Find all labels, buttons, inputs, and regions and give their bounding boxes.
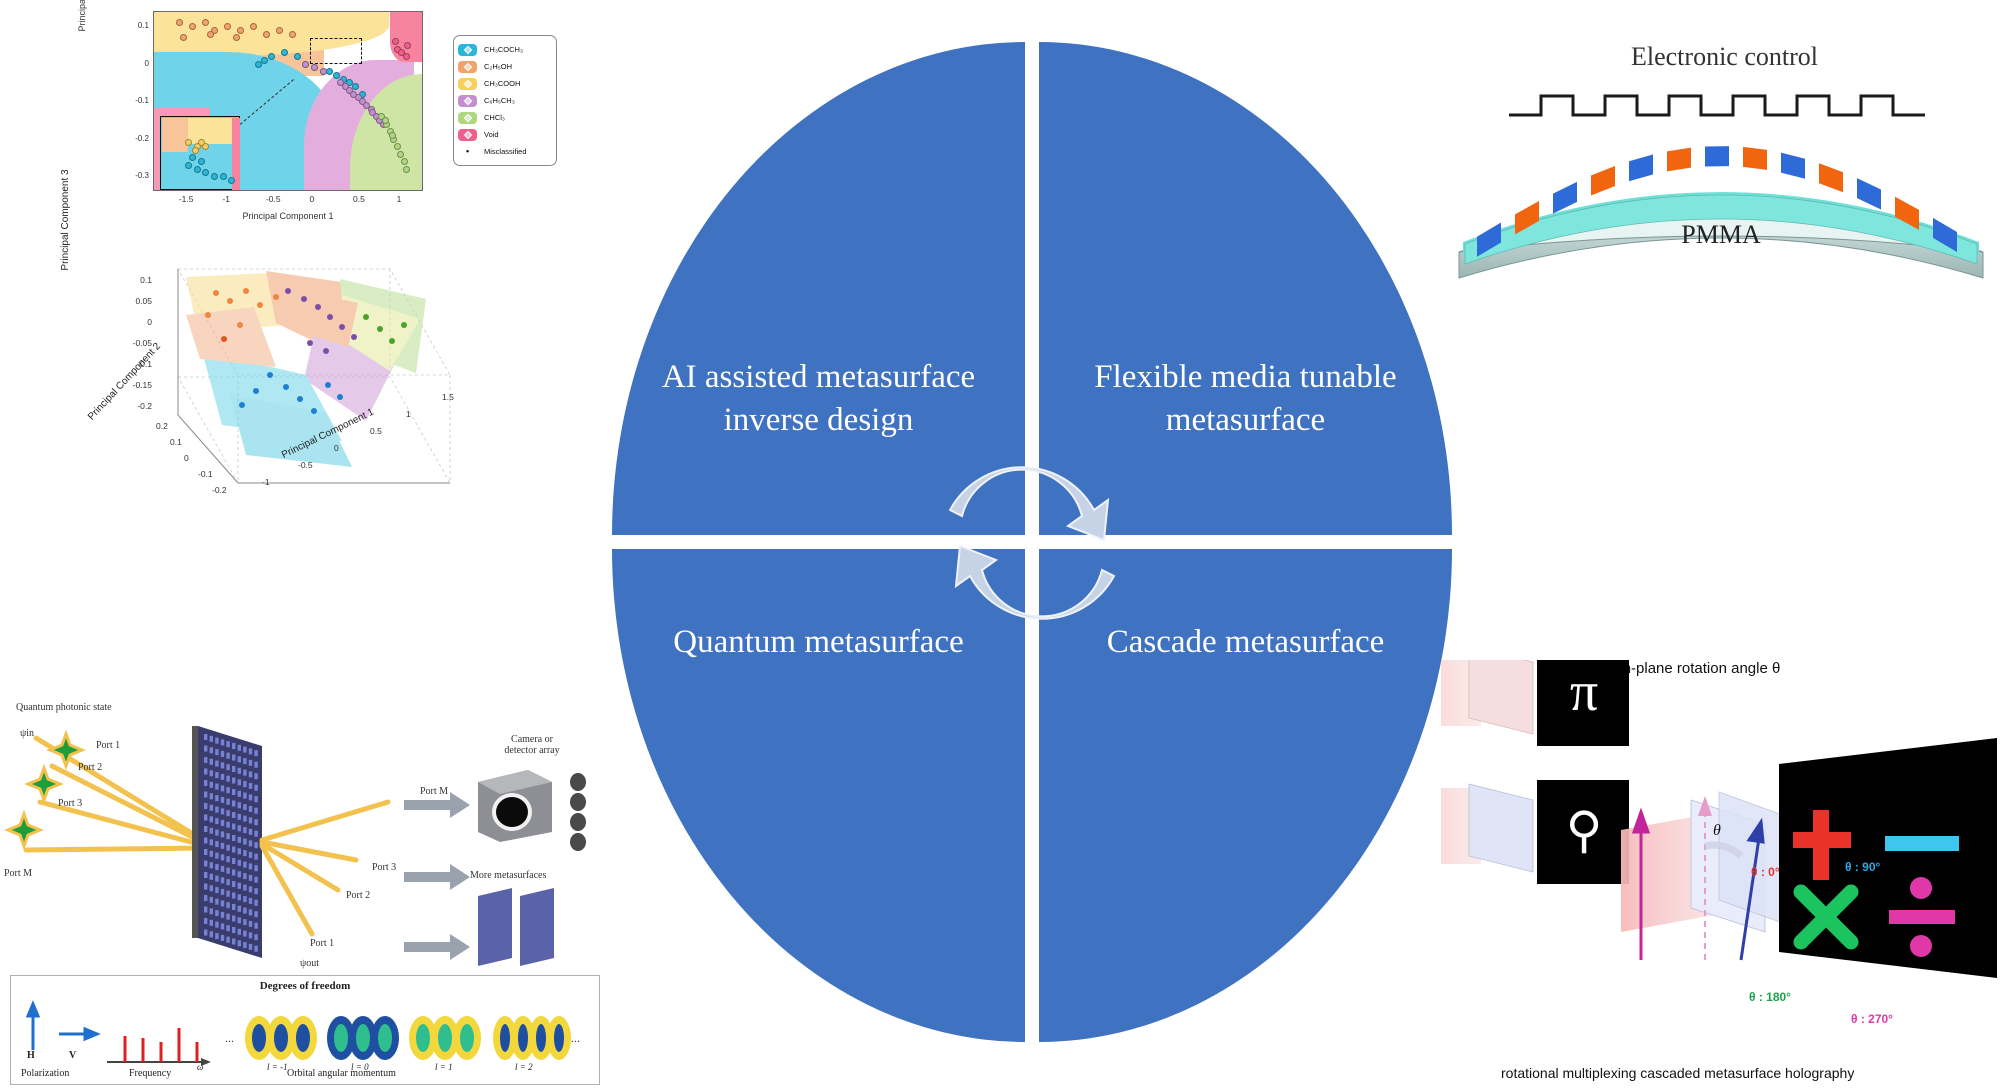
- meta-atom: [243, 839, 246, 845]
- metasurface-stripe: [1781, 153, 1805, 179]
- x-tick: -0.5: [298, 460, 313, 470]
- result-screen: [1779, 738, 1997, 978]
- pca-2d-x-axis-label: Principal Component 1: [153, 211, 423, 221]
- meta-atom: [243, 942, 246, 948]
- legend-row: Void: [458, 126, 552, 143]
- quadrant-label: Cascade metasurface: [1107, 621, 1385, 665]
- frequency-axis-label: ω: [197, 1062, 203, 1072]
- pca-2d-scatter-panel: Principal Component 2 0.10-0.1-0.2-0.3 -…: [105, 5, 575, 260]
- meta-atom: [221, 923, 224, 929]
- meta-atom: [232, 766, 235, 772]
- pca-3d-z-axis-label: Principal Component 3: [60, 145, 71, 295]
- meta-atom: [249, 748, 252, 754]
- meta-atom: [204, 803, 207, 809]
- hologram-magnifier-symbol: ⚲: [1553, 800, 1615, 860]
- square-wave-signal: [1509, 96, 1925, 115]
- meta-atom: [226, 891, 229, 897]
- meta-atom: [243, 885, 246, 891]
- theta-symbol-label: θ: [1713, 822, 1721, 840]
- meta-atom: [204, 826, 207, 832]
- meta-atom: [249, 760, 252, 766]
- metasurface-stripe: [1591, 166, 1615, 196]
- oam-modes-icon: [245, 1016, 571, 1060]
- meta-atom: [221, 877, 224, 883]
- meta-atom: [215, 795, 218, 801]
- meta-atom: [254, 831, 257, 837]
- meta-atom: [215, 841, 218, 847]
- scatter-point: [268, 53, 275, 60]
- meta-atom: [204, 746, 207, 752]
- legend-label: CH₃COOH: [484, 79, 520, 88]
- more-metasurfaces-icon: [478, 888, 554, 966]
- x-tick: -1.5: [179, 194, 194, 204]
- metasurface-plate: [192, 726, 262, 958]
- meta-atom: [210, 816, 213, 822]
- legend-row: CH₃COCH₃: [458, 41, 552, 58]
- photon-state-icons: [8, 734, 82, 846]
- metasurface-stripe: [1667, 148, 1691, 172]
- meta-atom: [215, 772, 218, 778]
- meta-atom: [232, 755, 235, 761]
- meta-atom: [221, 774, 224, 780]
- meta-atom: [232, 904, 235, 910]
- meta-atom: [232, 847, 235, 853]
- arrow-counterclockwise-icon: [956, 546, 1114, 619]
- scatter-point: [352, 83, 359, 90]
- meta-atom: [254, 819, 257, 825]
- more-metasurfaces-label: More metasurfaces: [470, 870, 546, 881]
- meta-atom: [226, 914, 229, 920]
- meta-atom: [232, 893, 235, 899]
- flexible-pmma-metasurface-panel: Electronic control PMMA: [1441, 20, 2001, 310]
- oam-mode-3-label: l = 2: [515, 1062, 533, 1072]
- meta-atom: [215, 749, 218, 755]
- meta-atom: [254, 911, 257, 917]
- scatter-point: [276, 27, 283, 34]
- meta-atom: [238, 768, 241, 774]
- meta-atom: [226, 902, 229, 908]
- scatter-point: [403, 53, 410, 60]
- meta-atom: [254, 750, 257, 756]
- legend-row: CHCl₃: [458, 109, 552, 126]
- meta-atom: [226, 741, 229, 747]
- meta-atom: [249, 771, 252, 777]
- scatter-point: [389, 132, 396, 139]
- pmma-illustration: [1441, 20, 2001, 310]
- meta-atom: [254, 842, 257, 848]
- scatter-point: [401, 158, 408, 165]
- output-beams: [262, 802, 388, 934]
- meta-atom: [232, 824, 235, 830]
- metasurface-stripe: [1743, 147, 1767, 170]
- pmma-substrate-label: PMMA: [1441, 220, 2001, 250]
- legend-swatch: [458, 129, 477, 141]
- legend-label: Void: [484, 130, 499, 139]
- meta-atom: [238, 871, 241, 877]
- meta-atom: [254, 762, 257, 768]
- legend-label: C₆H₅CH₃: [484, 96, 515, 105]
- meta-atom: [249, 909, 252, 915]
- meta-atom: [204, 769, 207, 775]
- legend-dot-icon: •: [458, 146, 477, 158]
- meta-atom: [226, 753, 229, 759]
- meta-atom: [204, 792, 207, 798]
- legend-swatch: [458, 95, 477, 107]
- zoom-inset-orange: [162, 118, 188, 152]
- meta-atom: [243, 781, 246, 787]
- x-tick: 0.5: [370, 426, 382, 436]
- meta-atom: [232, 870, 235, 876]
- polarization-arrows-icon: [28, 1004, 97, 1050]
- cascaded-case: [1621, 738, 1997, 978]
- legend-row: •Misclassified: [458, 143, 552, 160]
- meta-atom: [232, 835, 235, 841]
- scatter-point: [281, 49, 288, 56]
- meta-atom: [238, 779, 241, 785]
- legend-label: Misclassified: [484, 147, 527, 156]
- meta-atom: [215, 853, 218, 859]
- meta-atom: [226, 810, 229, 816]
- meta-atom: [238, 883, 241, 889]
- cascaded-holography-panel: Relative in-plane rotation angle θ: [1441, 660, 2001, 1092]
- oam-caption: Orbital angular momentum: [287, 1068, 396, 1079]
- angle-270-label: θ : 270°: [1851, 1012, 1893, 1026]
- meta-atom: [204, 872, 207, 878]
- meta-atom: [232, 927, 235, 933]
- meta-atom: [232, 812, 235, 818]
- meta-atom: [249, 932, 252, 938]
- meta-atom: [226, 879, 229, 885]
- meta-atom: [249, 875, 252, 881]
- quantum-metasurface-panel: Quantum photonic state ψin ψout Port 1 P…: [0, 690, 620, 1092]
- dashed-selection-box: [310, 38, 362, 64]
- meta-atom: [215, 830, 218, 836]
- meta-atom: [238, 906, 241, 912]
- camera-detector-icon: [478, 770, 586, 851]
- meta-atom: [238, 837, 241, 843]
- meta-atom: [243, 816, 246, 822]
- scatter-point: [302, 61, 309, 68]
- meta-atom: [204, 895, 207, 901]
- y-tick: -0.2: [135, 134, 149, 143]
- svg-text:...: ...: [225, 1031, 234, 1045]
- x-tick: -0.5: [266, 194, 281, 204]
- meta-atom: [243, 793, 246, 799]
- meta-atom: [238, 825, 241, 831]
- meta-atom: [215, 933, 218, 939]
- legend-row: CH₃COOH: [458, 75, 552, 92]
- meta-atom: [238, 929, 241, 935]
- polarization-v-label: V: [69, 1050, 76, 1061]
- meta-atom: [254, 865, 257, 871]
- scatter-point: [237, 27, 244, 34]
- meta-atom: [215, 818, 218, 824]
- meta-atom: [226, 845, 229, 851]
- x-tick: -1: [222, 194, 230, 204]
- meta-atom: [215, 864, 218, 870]
- meta-atom: [254, 946, 257, 952]
- meta-atom: [232, 743, 235, 749]
- angle-180-label: θ : 180°: [1749, 990, 1791, 1004]
- meta-atom: [210, 897, 213, 903]
- output-port-1-label: Port 1: [310, 938, 334, 949]
- meta-atom: [210, 805, 213, 811]
- metasurface-stripe: [1705, 146, 1729, 166]
- meta-atom: [221, 762, 224, 768]
- output-port-3-label: Port 3: [372, 862, 396, 873]
- meta-atom: [254, 785, 257, 791]
- output-arrows: [404, 792, 470, 960]
- meta-atom: [243, 850, 246, 856]
- meta-atom: [254, 923, 257, 929]
- meta-atom: [249, 886, 252, 892]
- meta-atom: [232, 778, 235, 784]
- degrees-of-freedom-box: Degrees of freedom: [10, 975, 600, 1085]
- x-tick: -1: [262, 477, 270, 487]
- meta-atom: [249, 898, 252, 904]
- scatter-point: [333, 72, 340, 79]
- meta-atom: [210, 862, 213, 868]
- meta-atom: [254, 900, 257, 906]
- meta-atom: [226, 822, 229, 828]
- meta-atom: [226, 787, 229, 793]
- y-tick: -0.1: [135, 96, 149, 105]
- quantum-photonic-state-label: Quantum photonic state: [16, 702, 112, 713]
- psi-out-label: ψout: [300, 958, 319, 969]
- meta-atom: [226, 856, 229, 862]
- scatter-point: [194, 166, 201, 173]
- meta-atom: [210, 885, 213, 891]
- meta-atom: [210, 920, 213, 926]
- meta-atom: [226, 799, 229, 805]
- legend-swatch: [458, 61, 477, 73]
- meta-atom: [215, 807, 218, 813]
- meta-atom: [215, 922, 218, 928]
- meta-atom: [204, 815, 207, 821]
- meta-atom: [243, 931, 246, 937]
- frequency-comb-icon: [107, 1028, 211, 1066]
- camera-detector-label: Camera or detector array: [482, 734, 582, 756]
- meta-atom: [243, 804, 246, 810]
- output-port-m-label: Port M: [420, 786, 448, 797]
- meta-atom: [232, 801, 235, 807]
- scatter-point: [294, 53, 301, 60]
- meta-atom: [221, 751, 224, 757]
- scatter-point: [320, 68, 327, 75]
- meta-atom: [238, 756, 241, 762]
- frequency-caption: Frequency: [129, 1068, 171, 1079]
- angle-90-label: θ : 90°: [1845, 860, 1880, 874]
- x-tick: 1: [406, 409, 411, 419]
- scatter-point: [289, 31, 296, 38]
- meta-atom: [221, 843, 224, 849]
- scatter-point: [403, 166, 410, 173]
- meta-atom: [232, 789, 235, 795]
- hologram-pi-symbol: π: [1553, 662, 1615, 722]
- svg-text:...: ...: [571, 1031, 580, 1045]
- arrow-clockwise-icon: [950, 467, 1108, 540]
- legend-row: C₂H₅OH: [458, 58, 552, 75]
- pca-legend: CH₃COCH₃C₂H₅OHCH₃COOHC₆H₅CH₃CHCl₃Void•Mi…: [453, 35, 557, 166]
- meta-atom: [221, 797, 224, 803]
- meta-atom: [210, 793, 213, 799]
- meta-atom: [204, 838, 207, 844]
- meta-atom: [215, 876, 218, 882]
- y-tick: 0.1: [138, 21, 149, 30]
- x-tick: 0: [334, 443, 339, 453]
- meta-atom: [249, 921, 252, 927]
- meta-atom: [249, 829, 252, 835]
- meta-atom: [249, 783, 252, 789]
- meta-atom: [210, 839, 213, 845]
- meta-atom: [249, 794, 252, 800]
- pca-2d-plot-area: [153, 11, 423, 191]
- meta-atom: [243, 747, 246, 753]
- pca-2d-y-axis-label: Principal Component 2: [77, 0, 87, 41]
- meta-atom: [243, 919, 246, 925]
- pca-2d-x-tick-labels: -1.5-1-0.500.51: [153, 194, 423, 208]
- pca-3d-scatter-panel: Principal Component 3: [90, 255, 490, 485]
- legend-label: C₂H₅OH: [484, 62, 512, 71]
- metasurface-stripe: [1857, 178, 1881, 209]
- psi-in-label: ψin: [20, 728, 34, 739]
- meta-atom: [210, 736, 213, 742]
- metasurface-stripe: [1629, 154, 1653, 181]
- meta-atom: [243, 758, 246, 764]
- meta-atom: [204, 849, 207, 855]
- meta-atom: [221, 935, 224, 941]
- meta-atom: [238, 802, 241, 808]
- holography-caption: rotational multiplexing cascaded metasur…: [1501, 1065, 1854, 1081]
- input-port-1-label: Port 1: [96, 740, 120, 751]
- meta-atom: [232, 939, 235, 945]
- x-tick: 0.5: [353, 194, 365, 204]
- metasurface-stripe: [1819, 163, 1843, 192]
- meta-atom: [221, 739, 224, 745]
- meta-atom: [221, 820, 224, 826]
- meta-atom: [238, 745, 241, 751]
- meta-atom: [226, 776, 229, 782]
- meta-atom: [249, 817, 252, 823]
- meta-atom: [243, 896, 246, 902]
- meta-atom: [249, 863, 252, 869]
- meta-atom: [221, 785, 224, 791]
- scatter-point: [326, 68, 333, 75]
- meta-atom: [249, 806, 252, 812]
- meta-atom: [238, 940, 241, 946]
- legend-label: CHCl₃: [484, 113, 505, 122]
- input-port-m-label: Port M: [4, 868, 32, 879]
- meta-atom: [215, 784, 218, 790]
- scatter-point: [382, 117, 389, 124]
- meta-atom: [232, 858, 235, 864]
- meta-atom: [221, 808, 224, 814]
- meta-atom: [226, 764, 229, 770]
- cycle-arrows-icon: [922, 422, 1142, 662]
- scatter-point: [394, 143, 401, 150]
- meta-atom: [238, 848, 241, 854]
- scatter-point: [255, 61, 262, 68]
- scatter-point: [233, 34, 240, 41]
- meta-atom: [204, 780, 207, 786]
- x-tick: 0: [309, 194, 314, 204]
- meta-atom: [210, 874, 213, 880]
- meta-atom: [254, 808, 257, 814]
- input-beams: [26, 738, 206, 850]
- meta-atom: [226, 937, 229, 943]
- scatter-point: [220, 173, 227, 180]
- output-port-2-label: Port 2: [346, 890, 370, 901]
- meta-atom: [215, 910, 218, 916]
- meta-atom: [238, 814, 241, 820]
- meta-atom: [204, 930, 207, 936]
- meta-atom: [243, 873, 246, 879]
- legend-label: CH₃COCH₃: [484, 45, 523, 54]
- meta-atom: [221, 854, 224, 860]
- scatter-point: [397, 151, 404, 158]
- polarization-caption: Polarization: [21, 1068, 69, 1079]
- meta-atom: [249, 840, 252, 846]
- meta-atom: [254, 934, 257, 940]
- oam-mode-2-label: l = 1: [435, 1062, 453, 1072]
- legend-swatch: [458, 78, 477, 90]
- scatter-point: [185, 162, 192, 169]
- input-port-3-label: Port 3: [58, 798, 82, 809]
- meta-atom: [204, 918, 207, 924]
- scatter-point: [263, 31, 270, 38]
- meta-atom: [210, 828, 213, 834]
- input-port-2-label: Port 2: [78, 762, 102, 773]
- legend-swatch: [458, 112, 477, 124]
- meta-atom: [226, 833, 229, 839]
- legend-swatch: [458, 44, 477, 56]
- meta-atom: [221, 912, 224, 918]
- meta-atom: [243, 862, 246, 868]
- polarization-h-label: H: [27, 1050, 35, 1061]
- meta-atom: [204, 884, 207, 890]
- meta-atom: [210, 908, 213, 914]
- central-cycle-diagram: AI assisted metasurface inverse design F…: [612, 42, 1452, 1042]
- meta-atom: [243, 770, 246, 776]
- meta-atom: [221, 866, 224, 872]
- meta-atom: [238, 917, 241, 923]
- scatter-point: [192, 147, 199, 154]
- meta-atom: [254, 877, 257, 883]
- meta-atom: [204, 734, 207, 740]
- scatter-point: [211, 173, 218, 180]
- meta-atom: [210, 770, 213, 776]
- meta-atom: [254, 773, 257, 779]
- meta-atom: [215, 887, 218, 893]
- meta-atom: [254, 854, 257, 860]
- meta-atom: [215, 761, 218, 767]
- meta-atom: [204, 861, 207, 867]
- angle-0-label: θ : 0°: [1751, 865, 1780, 879]
- meta-atom: [238, 894, 241, 900]
- meta-atom: [204, 757, 207, 763]
- x-tick: 1: [397, 194, 402, 204]
- meta-atom: [210, 851, 213, 857]
- meta-atom: [215, 899, 218, 905]
- meta-atom: [210, 782, 213, 788]
- meta-atom: [226, 868, 229, 874]
- meta-atom: [221, 900, 224, 906]
- scatter-point: [198, 158, 205, 165]
- legend-row: C₆H₅CH₃: [458, 92, 552, 109]
- meta-atom: [210, 747, 213, 753]
- scatter-point: [207, 31, 214, 38]
- meta-atom: [238, 791, 241, 797]
